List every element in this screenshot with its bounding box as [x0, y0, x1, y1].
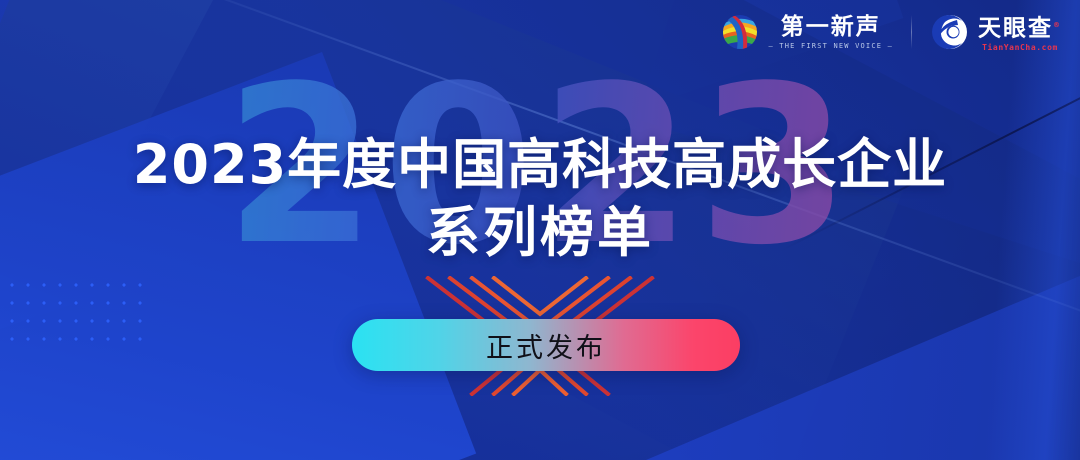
logo-diyixinsheng-tagline: — THE FIRST NEW VOICE —	[768, 42, 893, 50]
promo-banner: 2023 2023年度中国高科技高成长企业 系列榜单 正式发布	[0, 0, 1080, 460]
release-button[interactable]: 正式发布	[352, 319, 740, 371]
page-title: 2023年度中国高科技高成长企业 系列榜单	[0, 134, 1080, 264]
logo-tianyancha-domain: TianYanCha.com	[982, 43, 1058, 52]
release-button-label: 正式发布	[486, 326, 606, 365]
title-line-1: 2023年度中国高科技高成长企业	[0, 134, 1080, 196]
logo-diyixinsheng-name: 第一新声	[781, 14, 881, 40]
logo-tianyancha[interactable]: 天眼查® TianYanCha.com	[930, 12, 1062, 52]
trademark-mark: ®	[1053, 21, 1062, 29]
logo-diyixinsheng-text: 第一新声 — THE FIRST NEW VOICE —	[768, 14, 893, 50]
swoosh-globe-icon	[720, 12, 760, 52]
logo-tianyancha-name-cn: 天眼查	[978, 16, 1053, 42]
logo-tianyancha-text: 天眼查® TianYanCha.com	[978, 12, 1062, 52]
eye-lens-icon	[930, 12, 970, 52]
title-line-2: 系列榜单	[0, 202, 1080, 264]
dot-grid-decoration	[4, 276, 152, 342]
logo-divider	[911, 15, 912, 49]
logo-tianyancha-name: 天眼查®	[978, 12, 1062, 42]
logo-diyixinsheng[interactable]: 第一新声 — THE FIRST NEW VOICE —	[720, 12, 893, 52]
logo-bar: 第一新声 — THE FIRST NEW VOICE — 天眼查®	[720, 12, 1062, 52]
